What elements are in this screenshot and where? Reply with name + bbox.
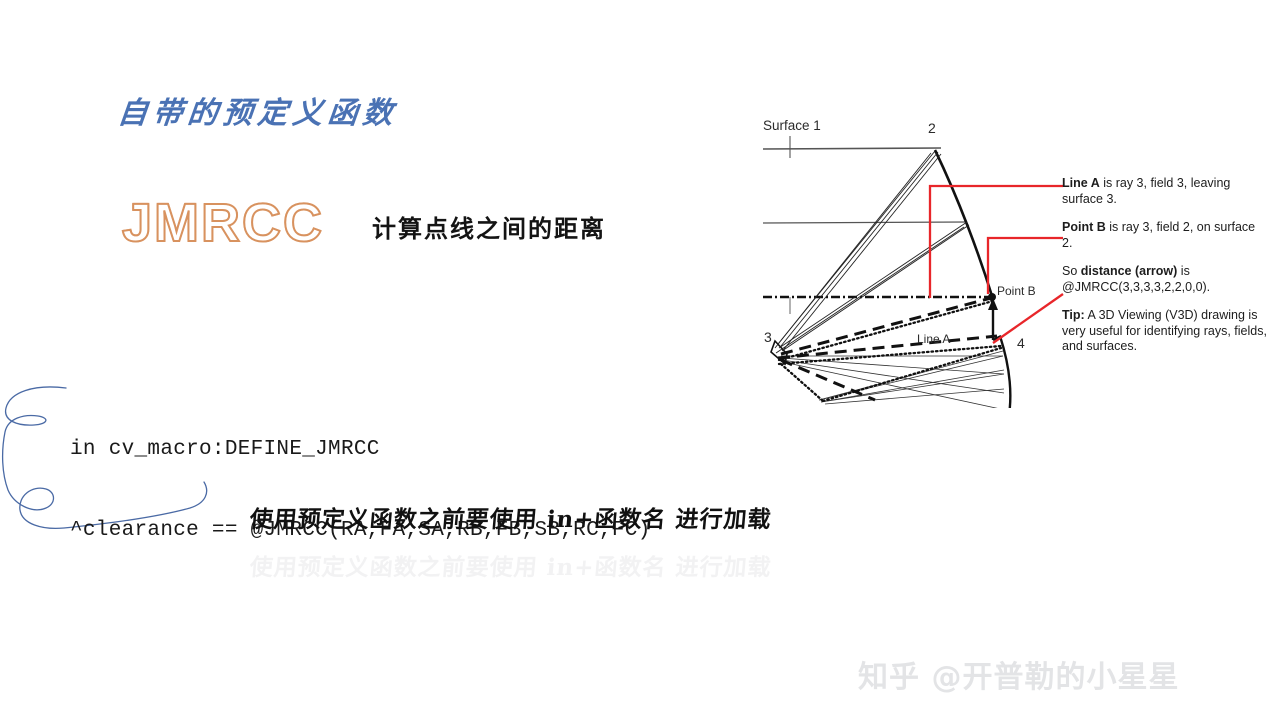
callout-leaders-red [930, 186, 1063, 343]
distance-arrow [988, 298, 1001, 340]
annotation-tip-lead: Tip: [1062, 308, 1085, 322]
annotation-line-a-lead: Line A [1062, 176, 1100, 190]
point-b-marker [988, 293, 996, 301]
surface-2-arc [935, 150, 992, 296]
annotation-distance-prefix: So [1062, 264, 1081, 278]
label-point-b: Point B [997, 284, 1036, 298]
usage-note-ghost: 使用预定义函数之前要使用 in+函数名 进行加载 [249, 548, 774, 582]
slide-canvas: 自带的预定义函数 JMRCC 计算点线之间的距离 in cv_macro:DEF… [0, 0, 1280, 720]
annotation-line-a: Line A is ray 3, field 3, leaving surfac… [1062, 176, 1268, 207]
label-surface-4: 4 [1017, 335, 1025, 351]
surface-1-line [763, 136, 941, 158]
annotation-distance-lead: distance (arrow) [1081, 264, 1178, 278]
label-surface-2: 2 [928, 120, 936, 136]
label-surface-3: 3 [764, 329, 772, 345]
label-line-a: Line A [917, 332, 950, 346]
dotted-ray-paths [779, 301, 1001, 401]
usage-note: 使用预定义函数之前要使用 in+函数名 进行加载 [249, 500, 774, 534]
annotation-tip: Tip: A 3D Viewing (V3D) drawing is very … [1062, 308, 1268, 355]
surface-4-arc [1000, 336, 1010, 408]
annotation-point-b: Point B is ray 3, field 2, on surface 2. [1062, 220, 1268, 251]
function-caption: 计算点线之间的距离 [372, 209, 606, 244]
annotation-list: Line A is ray 3, field 3, leaving surfac… [1062, 176, 1268, 355]
annotation-distance: So distance (arrow) is @JMRCC(3,3,3,3,2,… [1062, 264, 1268, 295]
annotation-point-b-lead: Point B [1062, 220, 1106, 234]
page-title: 自带的预定义函数 [116, 88, 401, 132]
mid-reference-line [763, 222, 967, 223]
label-surface-1: Surface 1 [763, 118, 821, 133]
ray-bundle-upper [775, 151, 969, 353]
function-name-wordart: JMRCC [122, 192, 324, 254]
annotation-tip-body: A 3D Viewing (V3D) drawing is very usefu… [1062, 308, 1267, 353]
watermark: 知乎 @开普勒的小星星 [858, 652, 1179, 696]
code-line-1: in cv_macro:DEFINE_JMRCC [70, 436, 651, 463]
